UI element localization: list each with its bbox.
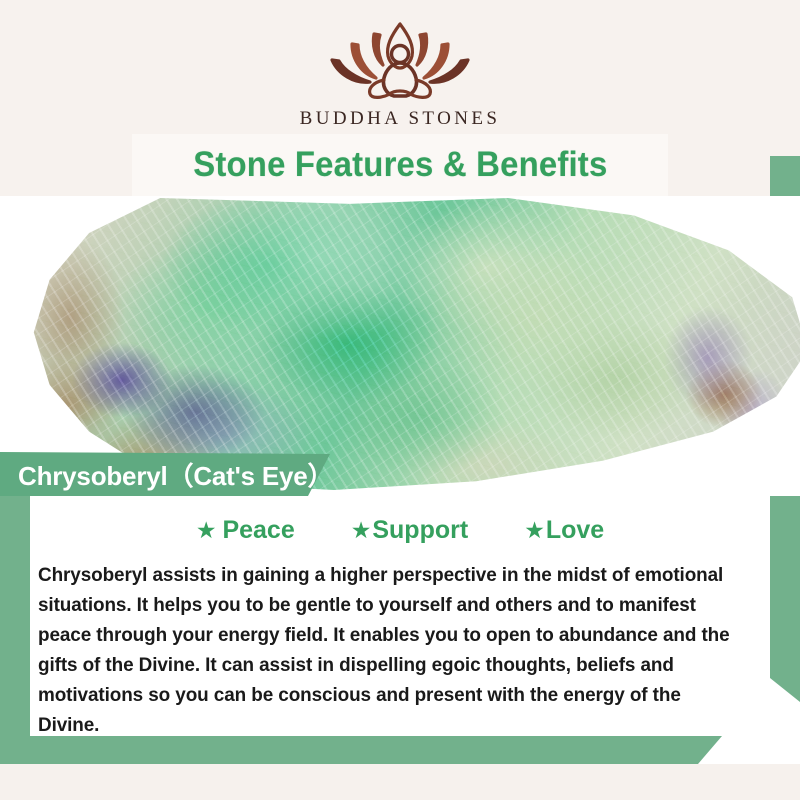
stone-image: [18, 198, 800, 490]
star-icon: ★: [196, 519, 217, 542]
content-panel: ★ Peace ★ Support ★ Love Chrysoberyl ass…: [30, 498, 770, 696]
footer-background: [0, 764, 800, 800]
star-icon: ★: [351, 519, 372, 542]
lotus-meditation-figure-icon: [312, 18, 488, 104]
stone-name-text: Chrysoberyl（Cat's Eye）: [18, 456, 333, 493]
brand-logo: BUDDHA STONES: [0, 18, 800, 138]
page-title: Stone Features & Benefits: [193, 145, 607, 185]
stone-name-badge: Chrysoberyl（Cat's Eye）: [0, 452, 330, 496]
keyword-label: Love: [546, 516, 604, 545]
brand-name: BUDDHA STONES: [300, 108, 501, 130]
infographic-card: BUDDHA STONES Stone Features & Benefits …: [0, 0, 800, 800]
stone-photo: [0, 196, 800, 496]
keyword-label: Support: [372, 516, 468, 545]
keyword-peace: ★ Peace: [196, 516, 295, 545]
keyword-love: ★ Love: [524, 516, 604, 545]
keyword-label: Peace: [222, 516, 294, 545]
keyword-list: ★ Peace ★ Support ★ Love: [30, 498, 770, 554]
star-icon: ★: [524, 519, 545, 542]
keyword-support: ★ Support: [351, 516, 468, 545]
stone-description: Chrysoberyl assists in gaining a higher …: [38, 560, 740, 740]
frame-border-bottom: [0, 736, 722, 764]
title-banner: Stone Features & Benefits: [132, 134, 668, 196]
stone-texture-overlay: [18, 198, 800, 490]
